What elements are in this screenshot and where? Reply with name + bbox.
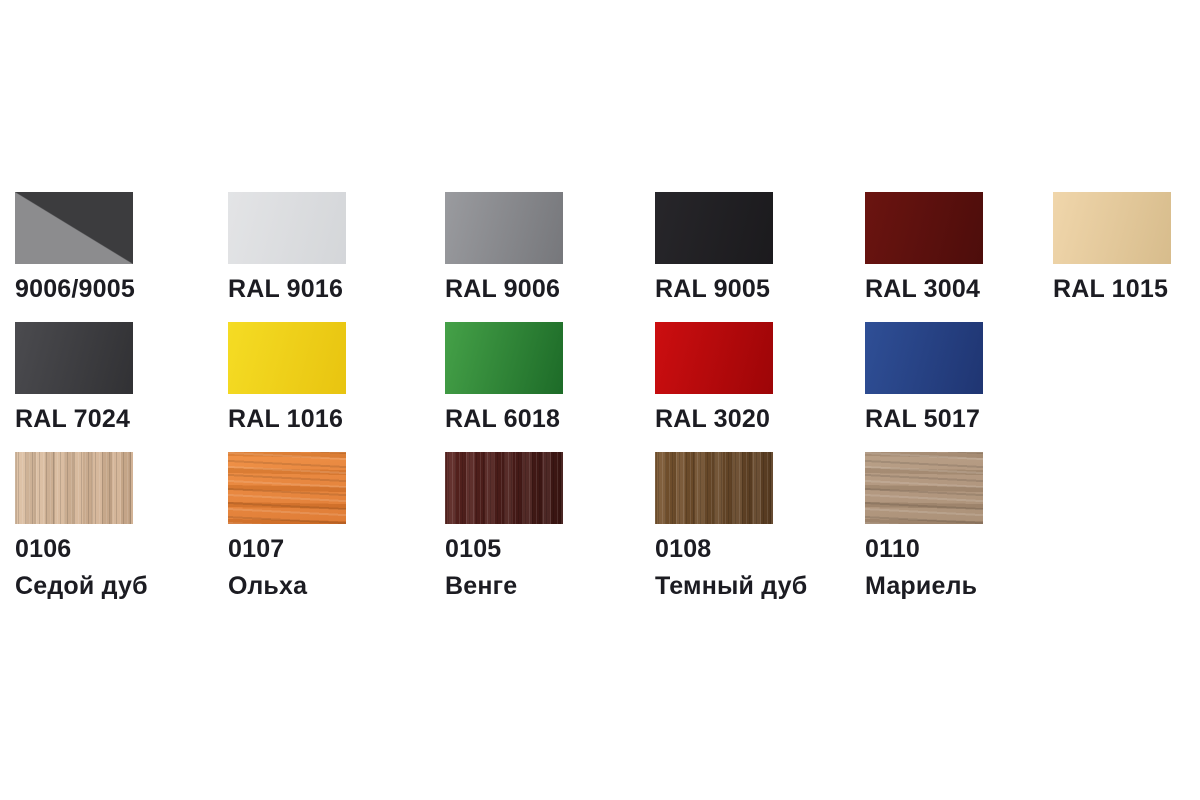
swatch-ral-1016[interactable]: RAL 1016 bbox=[228, 322, 418, 432]
ral-solid-row-2: RAL 7024RAL 1016RAL 6018RAL 3020RAL 5017 bbox=[0, 322, 1200, 452]
swatch-chip[interactable] bbox=[865, 322, 983, 394]
swatch-ral-9006[interactable]: RAL 9006 bbox=[445, 192, 635, 302]
swatch-color-fill bbox=[445, 452, 563, 524]
swatch-label-code: RAL 6018 bbox=[445, 407, 635, 432]
swatch-ral-1015[interactable]: RAL 1015 bbox=[1053, 192, 1200, 302]
swatch-label-code: 0106 bbox=[15, 537, 205, 562]
swatch-chip[interactable] bbox=[445, 452, 563, 524]
swatch-color-fill bbox=[15, 192, 133, 264]
swatch-label: RAL 3020 bbox=[655, 407, 845, 432]
swatch-ral-6018[interactable]: RAL 6018 bbox=[445, 322, 635, 432]
swatch-label-name: Венге bbox=[445, 574, 635, 599]
swatch-label-code: 0110 bbox=[865, 537, 1055, 562]
swatch-chip[interactable] bbox=[1053, 192, 1171, 264]
swatch-label-code: RAL 3004 bbox=[865, 277, 1055, 302]
swatch-chip[interactable] bbox=[228, 192, 346, 264]
swatch-color-fill bbox=[865, 452, 983, 524]
swatch-label-code: 9006/9005 bbox=[15, 277, 205, 302]
swatch-chip[interactable] bbox=[445, 192, 563, 264]
swatch-label-code: RAL 7024 bbox=[15, 407, 205, 432]
swatch-label: RAL 6018 bbox=[445, 407, 635, 432]
swatch-chip[interactable] bbox=[655, 452, 773, 524]
swatch-label-name: Ольха bbox=[228, 574, 418, 599]
swatch-chip[interactable] bbox=[228, 452, 346, 524]
swatch-chip[interactable] bbox=[655, 192, 773, 264]
swatch-ral-7024[interactable]: RAL 7024 bbox=[15, 322, 205, 432]
swatch-chip[interactable] bbox=[865, 192, 983, 264]
swatch-color-fill bbox=[865, 322, 983, 394]
swatch-0110-mariel[interactable]: 0110Мариель bbox=[865, 452, 1055, 599]
swatch-label-code: RAL 9006 bbox=[445, 277, 635, 302]
swatch-label-code: RAL 5017 bbox=[865, 407, 1055, 432]
swatch-label: 9006/9005 bbox=[15, 277, 205, 302]
swatch-color-fill bbox=[655, 322, 773, 394]
swatch-label: 0107Ольха bbox=[228, 537, 418, 599]
swatch-color-fill bbox=[445, 322, 563, 394]
swatch-chip[interactable] bbox=[15, 452, 133, 524]
swatch-color-fill bbox=[445, 192, 563, 264]
swatch-color-fill bbox=[228, 452, 346, 524]
color-palette-board: 9006/9005RAL 9016RAL 9006RAL 9005RAL 300… bbox=[0, 0, 1200, 800]
swatch-label-name: Седой дуб bbox=[15, 574, 205, 599]
swatch-ral-9005[interactable]: RAL 9005 bbox=[655, 192, 845, 302]
swatch-color-fill bbox=[228, 192, 346, 264]
swatch-label-name: Темный дуб bbox=[655, 574, 845, 599]
swatch-label-code: RAL 9016 bbox=[228, 277, 418, 302]
swatch-chip[interactable] bbox=[655, 322, 773, 394]
swatch-label: RAL 7024 bbox=[15, 407, 205, 432]
swatch-ral-3004[interactable]: RAL 3004 bbox=[865, 192, 1055, 302]
swatch-label-code: 0105 bbox=[445, 537, 635, 562]
swatch-label-code: 0107 bbox=[228, 537, 418, 562]
swatch-color-fill bbox=[15, 452, 133, 524]
swatch-label: RAL 9016 bbox=[228, 277, 418, 302]
swatch-label: RAL 9005 bbox=[655, 277, 845, 302]
swatch-label: RAL 1015 bbox=[1053, 277, 1200, 302]
swatch-color-fill bbox=[865, 192, 983, 264]
swatch-ral-3020[interactable]: RAL 3020 bbox=[655, 322, 845, 432]
swatch-color-fill bbox=[655, 192, 773, 264]
swatch-rows: 9006/9005RAL 9016RAL 9006RAL 9005RAL 300… bbox=[0, 192, 1200, 622]
swatch-label: 0110Мариель bbox=[865, 537, 1055, 599]
swatch-chip[interactable] bbox=[445, 322, 563, 394]
swatch-label-code: RAL 9005 bbox=[655, 277, 845, 302]
swatch-color-fill bbox=[1053, 192, 1171, 264]
swatch-color-fill bbox=[655, 452, 773, 524]
swatch-label-code: RAL 1016 bbox=[228, 407, 418, 432]
swatch-0107-olha[interactable]: 0107Ольха bbox=[228, 452, 418, 599]
swatch-label-code: 0108 bbox=[655, 537, 845, 562]
swatch-label: RAL 3004 bbox=[865, 277, 1055, 302]
swatch-0108-temny-dub[interactable]: 0108Темный дуб bbox=[655, 452, 845, 599]
swatch-chip[interactable] bbox=[228, 322, 346, 394]
swatch-chip[interactable] bbox=[865, 452, 983, 524]
swatch-label: 0105Венге bbox=[445, 537, 635, 599]
swatch-chip[interactable] bbox=[15, 322, 133, 394]
ral-solid-row-1: 9006/9005RAL 9016RAL 9006RAL 9005RAL 300… bbox=[0, 192, 1200, 322]
swatch-label: 0108Темный дуб bbox=[655, 537, 845, 599]
wood-decor-row-3: 0106Седой дуб0107Ольха0105Венге0108Темны… bbox=[0, 452, 1200, 622]
swatch-label: RAL 1016 bbox=[228, 407, 418, 432]
swatch-label-name: Мариель bbox=[865, 574, 1055, 599]
swatch-0106-sedoy-dub[interactable]: 0106Седой дуб bbox=[15, 452, 205, 599]
swatch-label-code: RAL 3020 bbox=[655, 407, 845, 432]
swatch-ral-5017[interactable]: RAL 5017 bbox=[865, 322, 1055, 432]
swatch-label: RAL 9006 bbox=[445, 277, 635, 302]
swatch-9006-9005[interactable]: 9006/9005 bbox=[15, 192, 205, 302]
swatch-color-fill bbox=[15, 322, 133, 394]
swatch-0105-venge[interactable]: 0105Венге bbox=[445, 452, 635, 599]
swatch-ral-9016[interactable]: RAL 9016 bbox=[228, 192, 418, 302]
swatch-label: RAL 5017 bbox=[865, 407, 1055, 432]
swatch-color-fill bbox=[228, 322, 346, 394]
swatch-chip[interactable] bbox=[15, 192, 133, 264]
swatch-label: 0106Седой дуб bbox=[15, 537, 205, 599]
swatch-label-code: RAL 1015 bbox=[1053, 277, 1200, 302]
